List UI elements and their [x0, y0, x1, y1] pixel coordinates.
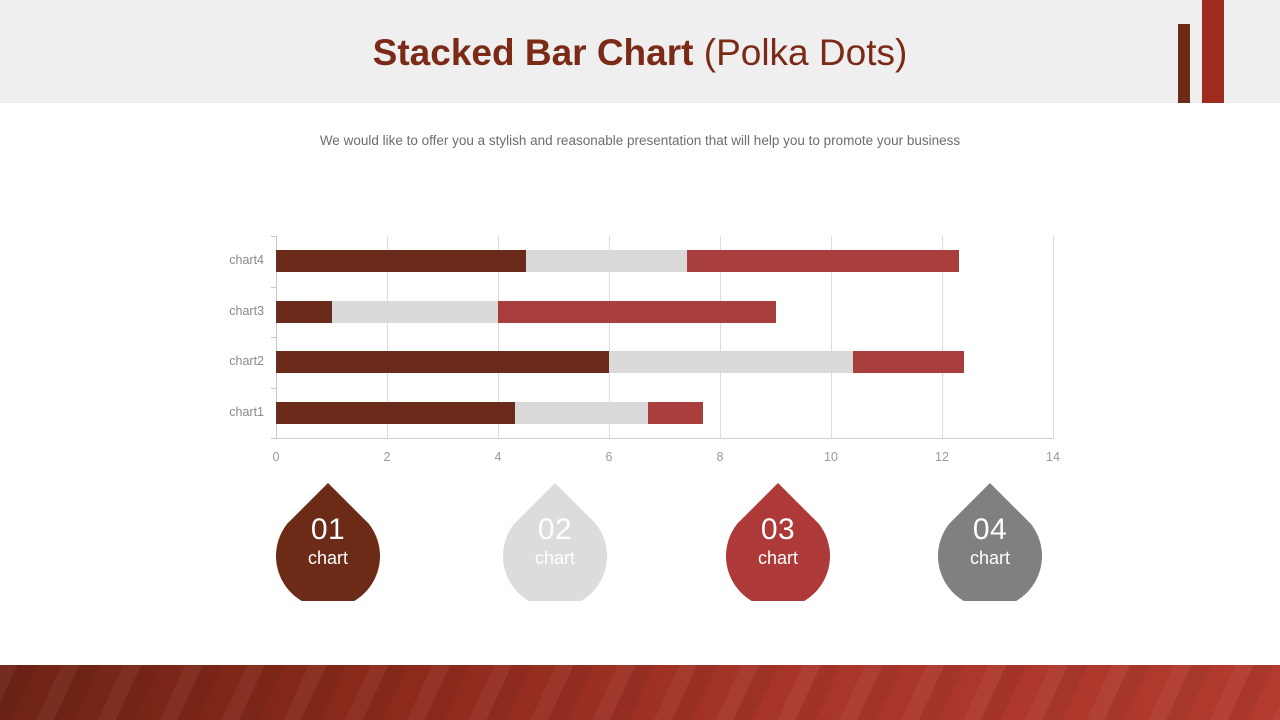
bar-segment-series-1[interactable] — [276, 301, 332, 323]
footer-band — [0, 665, 1280, 720]
bar-row[interactable] — [276, 301, 1053, 323]
y-axis-tick — [271, 236, 276, 237]
bar-segment-series-1[interactable] — [276, 402, 515, 424]
teardrop-icon — [726, 483, 830, 601]
bar-segment-series-2[interactable] — [609, 351, 853, 373]
bar-row[interactable] — [276, 351, 1053, 373]
y-axis-tick — [271, 287, 276, 288]
decorative-bar-tall-icon — [1202, 0, 1224, 103]
category-label-chart2: chart2 — [200, 354, 276, 368]
marker-01[interactable]: 01chart — [276, 483, 380, 601]
gridline — [1053, 236, 1054, 438]
teardrop-icon — [503, 483, 607, 601]
bar-segment-series-2[interactable] — [515, 402, 648, 424]
bar-segment-series-3[interactable] — [853, 351, 964, 373]
x-tick-label: 10 — [811, 450, 851, 464]
decorative-bar-short-icon — [1178, 24, 1190, 103]
x-axis-line — [276, 438, 1054, 439]
x-tick-label: 4 — [478, 450, 518, 464]
page-title-strong: Stacked Bar Chart — [373, 32, 694, 73]
page-title-light: (Polka Dots) — [704, 32, 908, 73]
bar-segment-series-3[interactable] — [498, 301, 776, 323]
x-tick-label: 12 — [922, 450, 962, 464]
bar-segment-series-2[interactable] — [526, 250, 687, 272]
marker-03[interactable]: 03chart — [726, 483, 830, 601]
bar-segment-series-3[interactable] — [687, 250, 959, 272]
x-tick-label: 8 — [700, 450, 740, 464]
x-tick-label: 2 — [367, 450, 407, 464]
marker-02[interactable]: 02chart — [503, 483, 607, 601]
category-axis-labels: chart4chart3chart2chart1 — [200, 236, 276, 438]
x-tick-label: 14 — [1033, 450, 1073, 464]
bar-segment-series-1[interactable] — [276, 351, 609, 373]
bar-row[interactable] — [276, 250, 1053, 272]
x-tick-label: 0 — [256, 450, 296, 464]
y-axis-tick — [271, 337, 276, 338]
bar-segment-series-1[interactable] — [276, 250, 526, 272]
teardrop-icon — [276, 483, 380, 601]
decorative-bars — [1178, 0, 1228, 103]
bar-row[interactable] — [276, 402, 1053, 424]
stacked-bar-chart: chart4chart3chart2chart1 02468101214 — [200, 228, 1080, 468]
bar-segment-series-2[interactable] — [332, 301, 499, 323]
y-axis-tick — [271, 438, 276, 439]
teardrop-icon — [938, 483, 1042, 601]
y-axis-tick — [271, 388, 276, 389]
chart-plot-area: 02468101214 — [276, 236, 1053, 438]
page-title: Stacked Bar Chart (Polka Dots) — [0, 29, 1280, 76]
subtitle: We would like to offer you a stylish and… — [0, 133, 1280, 148]
category-label-chart3: chart3 — [200, 304, 276, 318]
x-tick-label: 6 — [589, 450, 629, 464]
marker-04[interactable]: 04chart — [938, 483, 1042, 601]
chart-markers: 01chart02chart03chart04chart — [0, 483, 1280, 603]
bar-segment-series-3[interactable] — [648, 402, 704, 424]
category-label-chart4: chart4 — [200, 253, 276, 267]
category-label-chart1: chart1 — [200, 405, 276, 419]
